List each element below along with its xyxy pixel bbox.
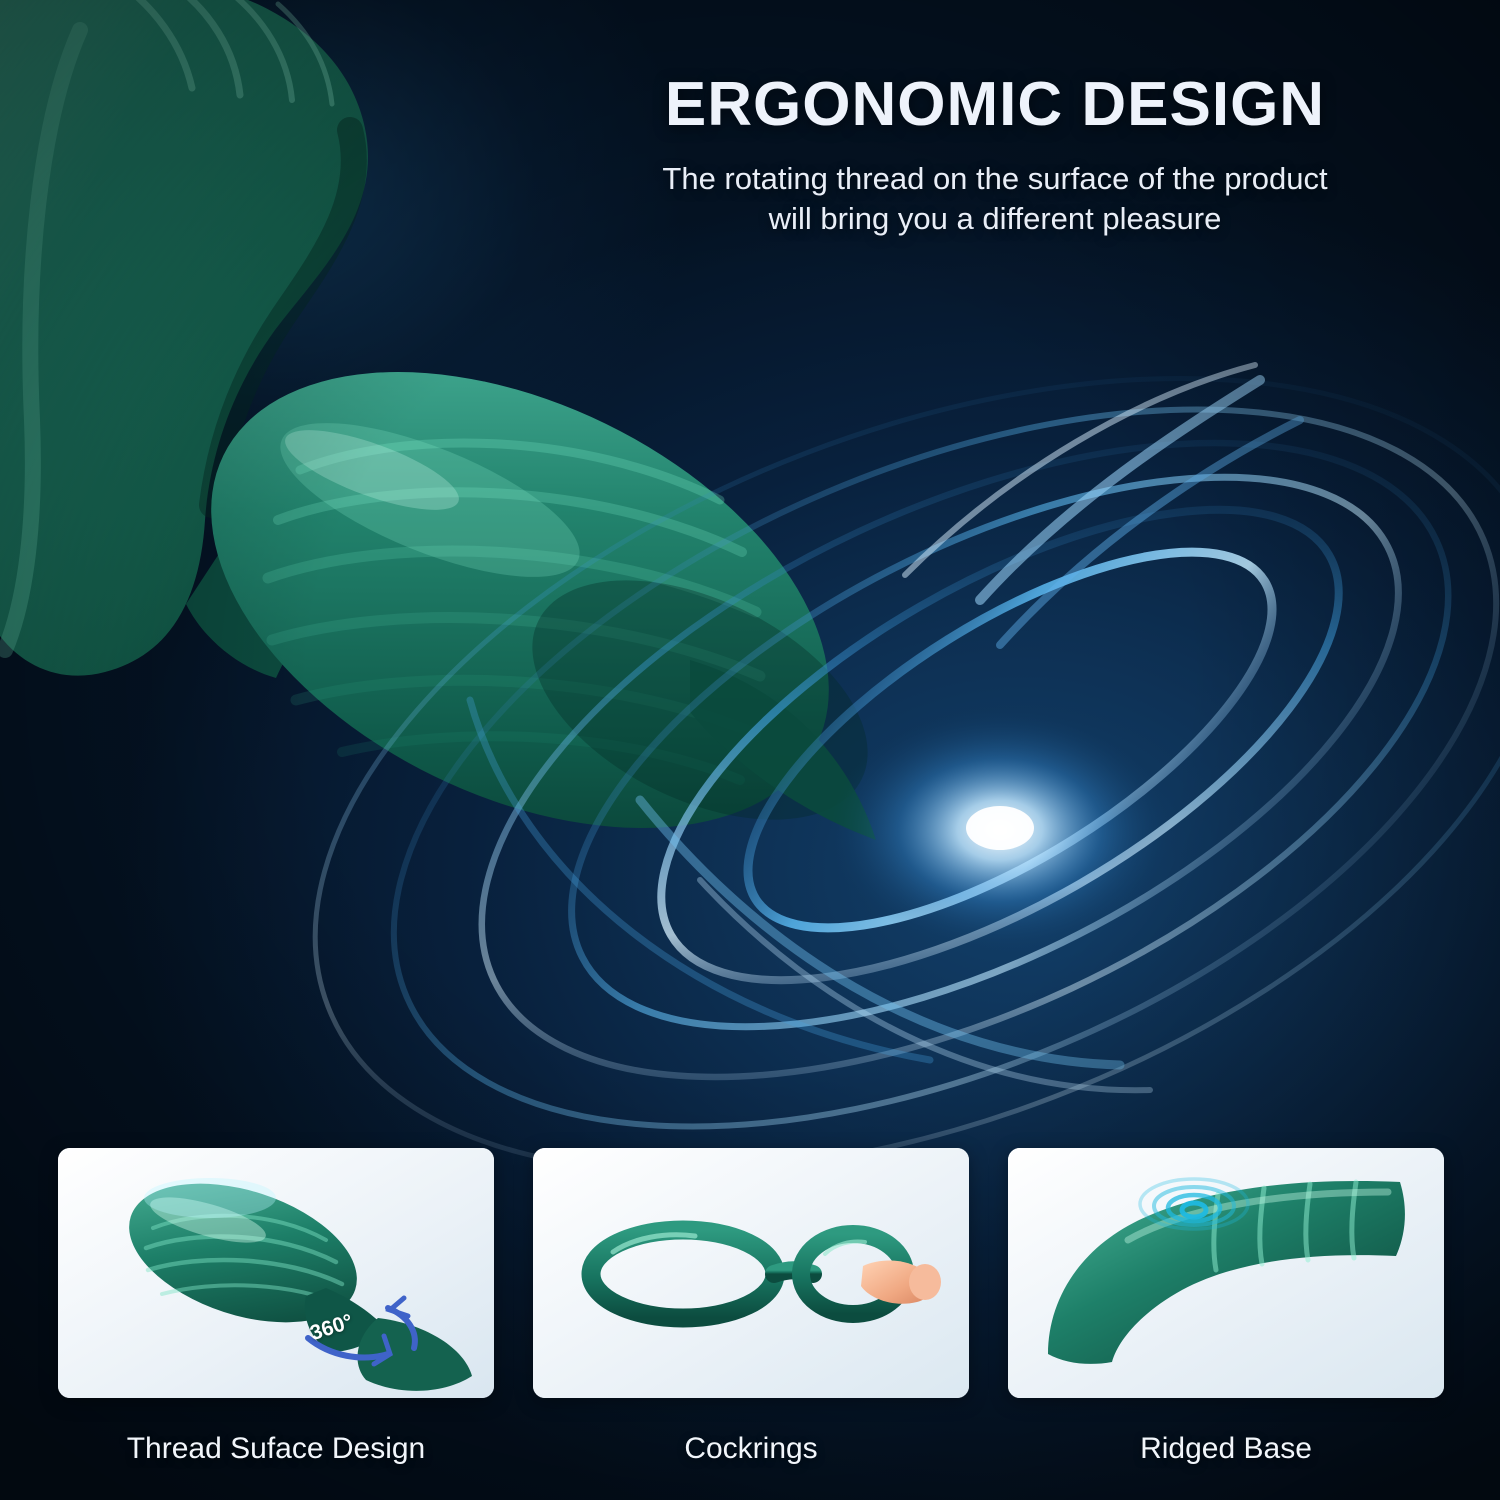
product-waist bbox=[186, 540, 318, 678]
product-feature-banner: ERGONOMIC DESIGN The rotating thread on … bbox=[0, 0, 1500, 1500]
ridged-base-image bbox=[1008, 1148, 1444, 1398]
feature-card-cockrings[interactable]: Cockrings bbox=[533, 1148, 969, 1466]
double-cockring-with-finger-icon bbox=[533, 1148, 969, 1398]
feature-card-ridged-base[interactable]: Ridged Base bbox=[1008, 1148, 1444, 1466]
headline-block: ERGONOMIC DESIGN The rotating thread on … bbox=[520, 72, 1470, 238]
subtitle-line-1: The rotating thread on the surface of th… bbox=[520, 159, 1470, 199]
feature-card-caption-1: Cockrings bbox=[533, 1432, 969, 1466]
cockrings-image bbox=[533, 1148, 969, 1398]
feature-card-row: 360° Thread Suface Design bbox=[58, 1148, 1444, 1466]
page-subtitle: The rotating thread on the surface of th… bbox=[520, 159, 1470, 238]
swirl-core-glow bbox=[830, 710, 1170, 950]
feature-card-caption-2: Ridged Base bbox=[1008, 1432, 1444, 1466]
ridged-base-vibration-icon bbox=[1008, 1148, 1444, 1398]
feature-card-thread-surface-design[interactable]: 360° Thread Suface Design bbox=[58, 1148, 494, 1466]
product-bulb bbox=[137, 279, 905, 921]
page-title: ERGONOMIC DESIGN bbox=[520, 72, 1470, 137]
feature-card-caption-0: Thread Suface Design bbox=[58, 1432, 494, 1466]
product-shaft bbox=[0, 0, 368, 676]
threaded-bulb-rotating-icon bbox=[58, 1148, 494, 1398]
thread-surface-design-image: 360° bbox=[58, 1148, 494, 1398]
subtitle-line-2: will bring you a different pleasure bbox=[520, 199, 1470, 239]
